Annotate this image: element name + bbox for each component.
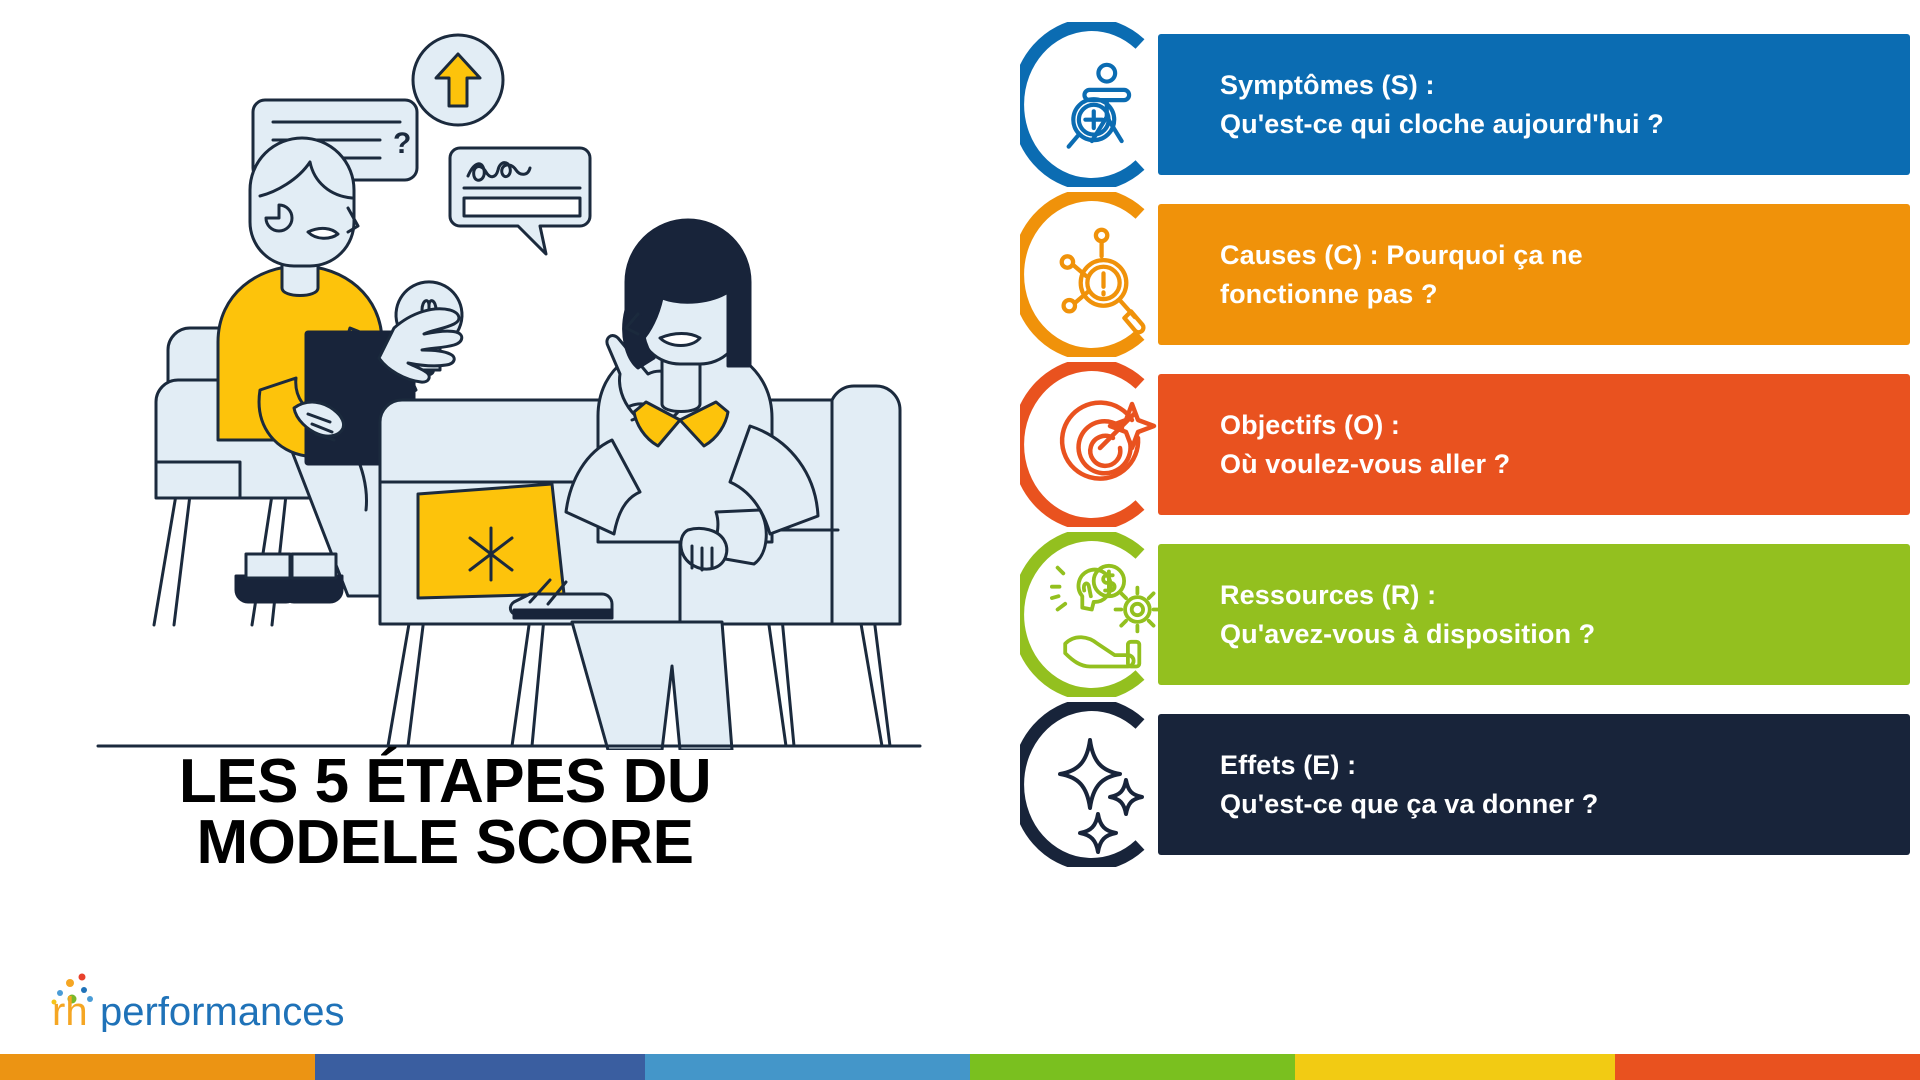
step-ring-symptomes xyxy=(1020,22,1185,187)
step-heading-causes: Causes (C) : Pourquoi ça ne xyxy=(1220,236,1583,274)
left-panel: ? xyxy=(0,0,1010,1080)
segment-green xyxy=(970,1054,1295,1080)
segment-red-orange xyxy=(1615,1054,1920,1080)
step-ring-causes xyxy=(1020,192,1185,357)
step-heading-ressources: Ressources (R) : xyxy=(1220,576,1595,614)
ring-arc xyxy=(1020,195,1140,355)
segment-orange xyxy=(0,1054,315,1080)
infographic-canvas: ? xyxy=(0,0,1920,1080)
two-people-conversation-illustration: ? xyxy=(60,10,960,750)
step-ring-objectifs xyxy=(1020,362,1185,527)
score-steps-list: Symptômes (S) : Qu'est-ce qui cloche auj… xyxy=(1010,0,1920,1040)
up-arrow-badge-icon xyxy=(413,35,503,125)
step-row-objectifs[interactable]: Objectifs (O) : Où voulez-vous aller ? xyxy=(1010,362,1920,527)
logo-mark-text: rh xyxy=(52,990,88,1032)
step-row-ressources[interactable]: Ressources (R) : Qu'avez-vous à disposit… xyxy=(1010,532,1920,697)
segment-light-blue xyxy=(645,1054,970,1080)
step-ring-ressources xyxy=(1020,532,1185,697)
svg-text:?: ? xyxy=(393,127,411,160)
step-heading-effets: Effets (E) : xyxy=(1220,746,1598,784)
step-bar-ressources[interactable]: Ressources (R) : Qu'avez-vous à disposit… xyxy=(1158,544,1910,685)
step-question-causes: fonctionne pas ? xyxy=(1220,275,1583,313)
speech-bubble-scribble-icon xyxy=(450,148,590,254)
logo-rh-performances: rh performances xyxy=(38,968,368,1032)
person-magnifier-plus-icon xyxy=(1069,65,1129,147)
step-question-ressources: Qu'avez-vous à disposition ? xyxy=(1220,615,1595,653)
footer-color-bar xyxy=(0,1054,1920,1080)
step-row-causes[interactable]: Causes (C) : Pourquoi ça ne fonctionne p… xyxy=(1010,192,1920,357)
step-ring-effets xyxy=(1020,702,1185,867)
step-bar-causes[interactable]: Causes (C) : Pourquoi ça ne fonctionne p… xyxy=(1158,204,1910,345)
sparkles-icon xyxy=(1060,740,1142,852)
step-question-symptomes: Qu'est-ce qui cloche aujourd'hui ? xyxy=(1220,105,1664,143)
page-title-line-2: MODELE SCORE xyxy=(30,813,860,874)
segment-yellow xyxy=(1295,1054,1615,1080)
yellow-cushion xyxy=(418,484,564,598)
step-question-objectifs: Où voulez-vous aller ? xyxy=(1220,445,1510,483)
step-heading-symptomes: Symptômes (S) : xyxy=(1220,66,1664,104)
step-bar-effets[interactable]: Effets (E) : Qu'est-ce que ça va donner … xyxy=(1158,714,1910,855)
magnifier-exclamation-nodes-icon xyxy=(1062,230,1144,333)
step-heading-objectifs: Objectifs (O) : xyxy=(1220,406,1510,444)
hand-bulb-coin-gear-icon xyxy=(1052,566,1159,667)
segment-navy-blue xyxy=(315,1054,645,1080)
step-row-symptomes[interactable]: Symptômes (S) : Qu'est-ce qui cloche auj… xyxy=(1010,22,1920,187)
step-question-effets: Qu'est-ce que ça va donner ? xyxy=(1220,785,1598,823)
ring-arc xyxy=(1020,535,1140,695)
step-bar-objectifs[interactable]: Objectifs (O) : Où voulez-vous aller ? xyxy=(1158,374,1910,515)
target-arrow-icon xyxy=(1062,403,1154,479)
page-title-line-1: LES 5 ÉTAPES DU xyxy=(30,752,860,813)
logo-word-text: performances xyxy=(100,990,345,1032)
step-bar-symptomes[interactable]: Symptômes (S) : Qu'est-ce qui cloche auj… xyxy=(1158,34,1910,175)
page-title: LES 5 ÉTAPES DU MODELE SCORE xyxy=(30,752,860,874)
step-row-effets[interactable]: Effets (E) : Qu'est-ce que ça va donner … xyxy=(1010,702,1920,867)
